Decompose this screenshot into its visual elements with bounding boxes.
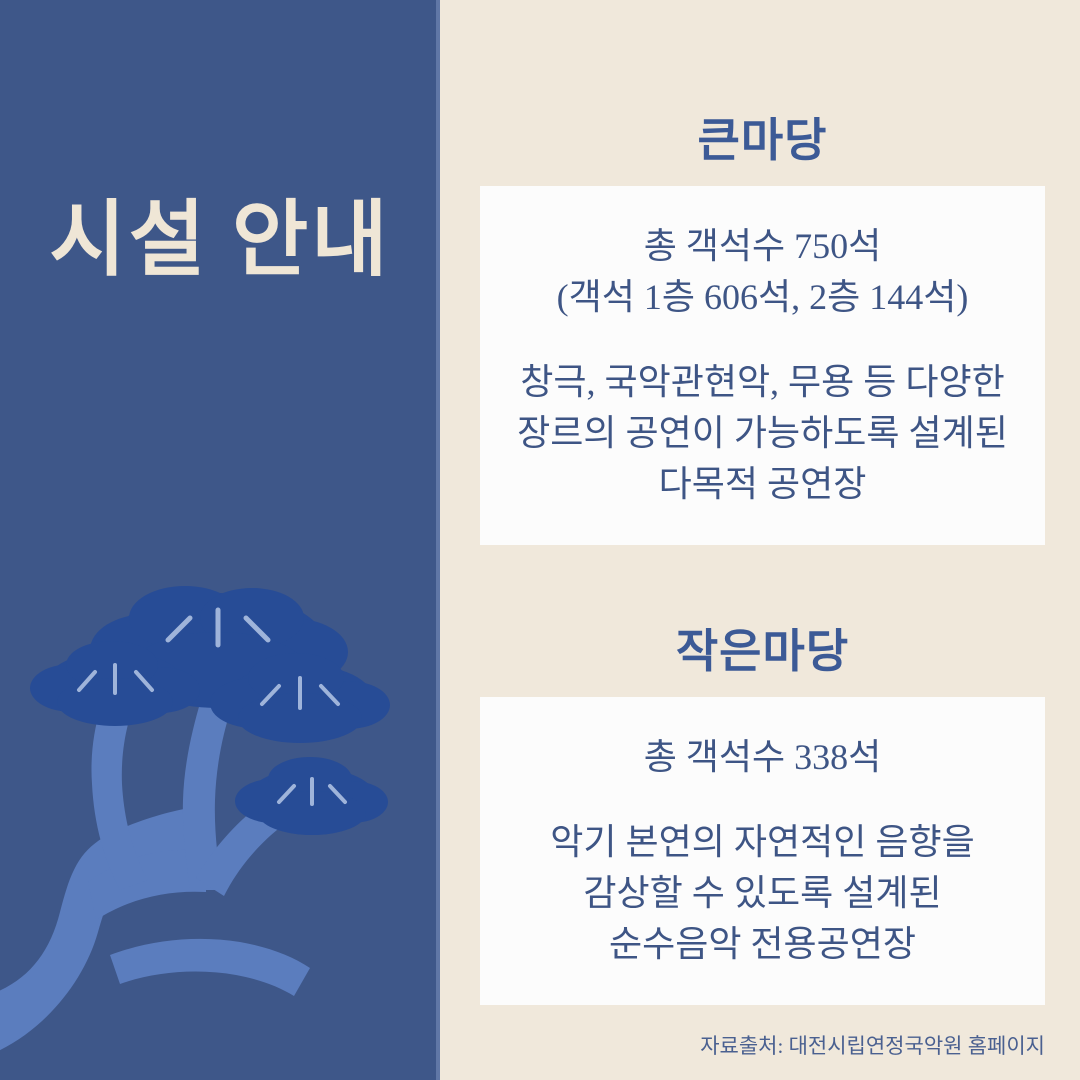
card-line: 악기 본연의 자연적인 음향을 [480,817,1045,868]
card-line: 순수음악 전용공연장 [480,919,1045,970]
card-line: (객석 1층 606석, 2층 144석) [480,272,1045,323]
poster-canvas: 시설 안내 [0,0,1080,1080]
card-block-description: 악기 본연의 자연적인 음향을 감상할 수 있도록 설계된 순수음악 전용공연장 [480,817,1045,970]
card-block-seats: 총 객석수 338석 [480,732,1045,783]
card-block-description: 창극, 국악관현악, 무용 등 다양한 장르의 공연이 가능하도록 설계된 다목… [480,357,1045,510]
page-title: 시설 안내 [0,197,440,284]
card-line: 총 객석수 750석 [480,221,1045,272]
card-line: 장르의 공연이 가능하도록 설계된 [480,408,1045,459]
info-card-jageunmadang: 총 객석수 338석 악기 본연의 자연적인 음향을 감상할 수 있도록 설계된… [480,697,1045,1005]
info-card-keunmadang: 총 객석수 750석 (객석 1층 606석, 2층 144석) 창극, 국악관… [480,186,1045,545]
card-line: 감상할 수 있도록 설계된 [480,868,1045,919]
source-attribution: 자료출처: 대전시립연정국악원 홈페이지 [700,1030,1045,1060]
card-line: 다목적 공연장 [480,459,1045,510]
section-heading-jageunmadang: 작은마당 [480,615,1045,681]
card-line: 총 객석수 338석 [480,732,1045,783]
tree-branch-lower-right [110,939,310,996]
left-title-panel: 시설 안내 [0,0,440,1080]
right-content-panel: 큰마당 총 객석수 750석 (객석 1층 606석, 2층 144석) 창극,… [440,0,1080,1080]
card-block-seats: 총 객석수 750석 (객석 1층 606석, 2층 144석) [480,221,1045,323]
card-line: 창극, 국악관현악, 무용 등 다양한 [480,357,1045,408]
section-heading-keunmadang: 큰마당 [480,104,1045,170]
pine-tree-illustration [0,560,440,1080]
